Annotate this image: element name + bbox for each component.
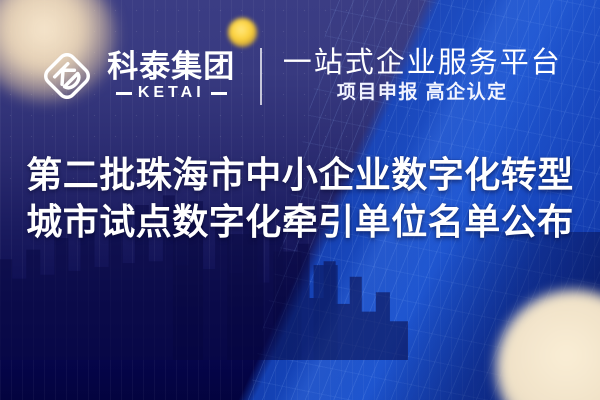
banner-title: 第二批珠海市中小企业数字化转型 城市试点数字化牵引单位名单公布 [0,152,600,245]
tagline-block: 一站式企业服务平台 项目申报 高企认定 [283,48,562,104]
brand-name-cn: 科泰集团 [107,51,235,82]
brand-lockup: 科泰集团 KETAI [38,47,235,105]
dash-left-icon [116,92,132,95]
brand-name-en: KETAI [138,85,205,101]
banner-header: 科泰集团 KETAI 一站式企业服务平台 项目申报 高企认定 [0,40,600,112]
wordmark-en-row: KETAI [107,85,235,101]
tagline-sub: 项目申报 高企认定 [283,83,562,104]
vertical-divider [260,48,262,105]
wordmark: 科泰集团 KETAI [107,51,235,101]
promo-banner: 科泰集团 KETAI 一站式企业服务平台 项目申报 高企认定 第二批珠海市中小企… [0,0,600,400]
title-line-1: 第二批珠海市中小企业数字化转型 [26,152,574,197]
tagline-main: 一站式企业服务平台 [283,48,562,79]
ketai-diamond-monogram-icon [38,47,96,105]
dash-right-icon [211,92,227,95]
title-line-2: 城市试点数字化牵引单位名单公布 [26,199,574,244]
